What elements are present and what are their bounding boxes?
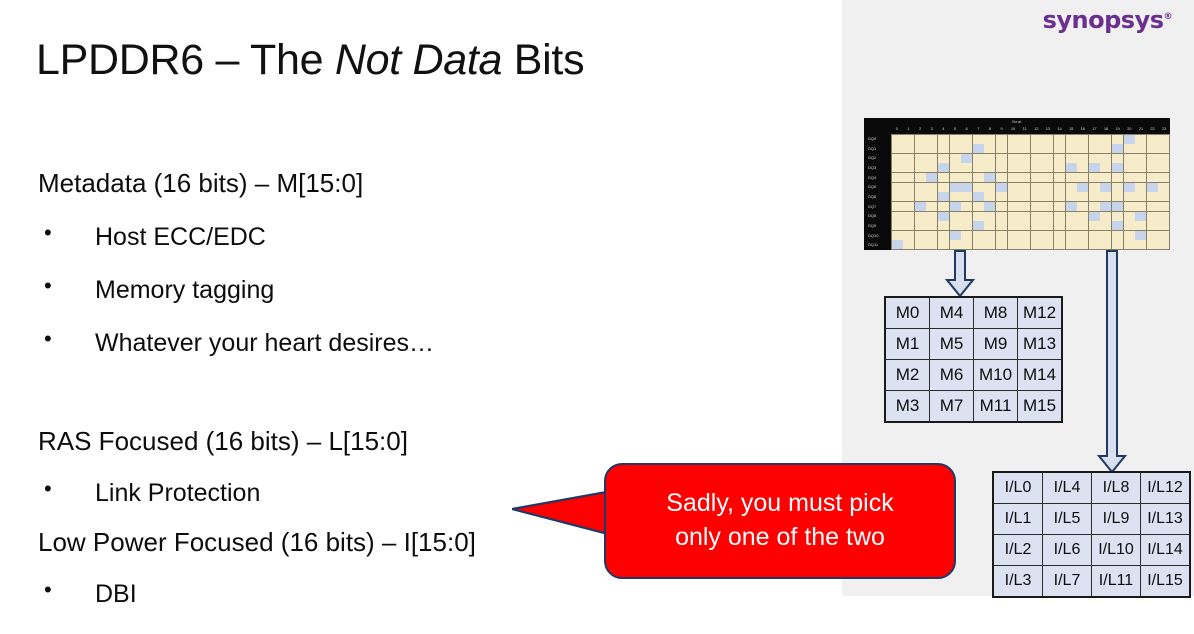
metadata-bit-table: M0M4M8M12M1M5M9M13M2M6M10M14M3M7M11M15 — [884, 296, 1063, 423]
heatmap-cell — [961, 173, 972, 182]
heatmap-cell — [1124, 231, 1135, 240]
heatmap-cell — [892, 163, 903, 172]
heatmap-cell — [996, 173, 1007, 182]
heatmap-cell — [1135, 231, 1146, 240]
heatmap-cell — [915, 173, 926, 182]
heatmap-cell — [1054, 183, 1065, 192]
heatmap-cell — [1031, 163, 1042, 172]
heatmap-row-label: DQ11 — [864, 240, 891, 250]
heatmap-cell — [1054, 231, 1065, 240]
heatmap-cell — [1089, 163, 1100, 172]
heatmap-col-label: 16 — [1077, 125, 1089, 133]
heatmap-cell — [1158, 135, 1169, 144]
metadata-bit-cell: M7 — [930, 391, 974, 423]
heatmap-cell — [926, 183, 937, 192]
il-bit-cell: I/L3 — [993, 566, 1043, 598]
heatmap-cell — [1089, 144, 1100, 153]
heatmap-cell — [950, 202, 961, 211]
heatmap-cell — [1158, 144, 1169, 153]
heatmap-cell — [1008, 221, 1019, 230]
heatmap-cell — [1042, 231, 1053, 240]
heatmap-cell — [1135, 163, 1146, 172]
heatmap-cell — [915, 163, 926, 172]
heatmap-col-label: 10 — [1007, 125, 1019, 133]
heatmap-cell — [1031, 202, 1042, 211]
heatmap-col-label: 12 — [1031, 125, 1043, 133]
heatmap-cell — [1124, 154, 1135, 163]
table-row: I/L2I/L6I/L10I/L14 — [993, 535, 1190, 566]
heatmap-cell — [926, 192, 937, 201]
heatmap-cell — [950, 163, 961, 172]
heatmap-cell — [1158, 240, 1169, 249]
arrow-shape — [947, 251, 973, 296]
heatmap-row-label: DQ8 — [864, 211, 891, 221]
heatmap-cell — [1008, 192, 1019, 201]
heatmap-cell — [915, 231, 926, 240]
heatmap-cell — [1042, 144, 1053, 153]
heatmap-row-label: DQ5 — [864, 182, 891, 192]
registered-mark: ® — [1164, 12, 1173, 22]
il-bit-cell: I/L12 — [1141, 472, 1191, 504]
heatmap-cell — [926, 212, 937, 221]
title-part-2: Bits — [502, 36, 584, 84]
heatmap-cell — [1066, 221, 1077, 230]
heatmap-cell — [938, 192, 949, 201]
heatmap-cell — [903, 154, 914, 163]
il-bit-cell: I/L2 — [993, 535, 1043, 566]
heatmap-cell — [1100, 221, 1111, 230]
heatmap-cell — [1066, 144, 1077, 153]
heatmap-cell — [984, 154, 995, 163]
heatmap-cell — [1147, 173, 1158, 182]
heatmap-cell — [973, 183, 984, 192]
heatmap-cell — [1112, 192, 1123, 201]
metadata-bit-cell: M12 — [1018, 297, 1063, 329]
il-bit-cell: I/L10 — [1092, 535, 1141, 566]
il-bit-table: I/L0I/L4I/L8I/L12I/L1I/L5I/L9I/L13I/L2I/… — [992, 471, 1191, 598]
heatmap-cell — [1124, 221, 1135, 230]
heatmap-cell — [1054, 202, 1065, 211]
dq-beat-heatmap: Beat 01234567891011121314151617181920212… — [864, 118, 1170, 250]
heatmap-cell — [984, 192, 995, 201]
bullet-item: • Whatever your heart desires… — [38, 329, 434, 357]
heatmap-cell — [1054, 135, 1065, 144]
heatmap-cell — [973, 202, 984, 211]
heatmap-cell — [950, 144, 961, 153]
heatmap-cell — [996, 231, 1007, 240]
table-row: M1M5M9M13 — [885, 329, 1062, 360]
heatmap-cell — [1031, 192, 1042, 201]
heatmap-col-label: 23 — [1158, 125, 1170, 133]
il-table-body: I/L0I/L4I/L8I/L12I/L1I/L5I/L9I/L13I/L2I/… — [993, 472, 1190, 597]
heatmap-cell — [1112, 212, 1123, 221]
heatmap-cell — [915, 240, 926, 249]
heatmap-cell — [1124, 202, 1135, 211]
heatmap-cell — [1158, 154, 1169, 163]
heatmap-cell — [996, 202, 1007, 211]
heatmap-cell — [1147, 163, 1158, 172]
heatmap-col-label: 22 — [1147, 125, 1159, 133]
heatmap-cell — [1019, 144, 1030, 153]
heatmap-cell — [1031, 240, 1042, 249]
il-bit-cell: I/L6 — [1043, 535, 1092, 566]
metadata-bit-cell: M13 — [1018, 329, 1063, 360]
heatmap-cell — [1147, 202, 1158, 211]
heatmap-cell — [1100, 183, 1111, 192]
metadata-bit-cell: M10 — [974, 360, 1018, 391]
heatmap-cell — [1158, 231, 1169, 240]
heatmap-cell — [1008, 173, 1019, 182]
heatmap-cell — [996, 135, 1007, 144]
heatmap-cell — [1066, 202, 1077, 211]
table-row: I/L1I/L5I/L9I/L13 — [993, 504, 1190, 535]
metadata-bit-cell: M14 — [1018, 360, 1063, 391]
heatmap-cell — [926, 163, 937, 172]
heatmap-col-label: 4 — [938, 125, 950, 133]
heatmap-cell — [1042, 173, 1053, 182]
heatmap-cell — [1019, 173, 1030, 182]
heatmap-cell — [961, 154, 972, 163]
il-bit-cell: I/L13 — [1141, 504, 1191, 535]
heatmap-cell — [1031, 173, 1042, 182]
heatmap-cell — [950, 221, 961, 230]
section-heading: Low Power Focused (16 bits) – I[15:0] — [38, 528, 476, 557]
heatmap-cell — [1135, 240, 1146, 249]
heatmap-cell — [1008, 183, 1019, 192]
bullet-glyph-icon: • — [44, 477, 52, 502]
heatmap-cell — [1008, 231, 1019, 240]
heatmap-cell — [1089, 192, 1100, 201]
heatmap-cell — [1066, 135, 1077, 144]
title-part-1: LPDDR6 – The — [36, 36, 335, 84]
heatmap-cell — [996, 221, 1007, 230]
heatmap-cell — [1019, 212, 1030, 221]
heatmap-cell — [1077, 163, 1088, 172]
bullet-item: • Memory tagging — [38, 276, 434, 304]
heatmap-cell — [950, 212, 961, 221]
heatmap-cell — [903, 192, 914, 201]
heatmap-cell — [938, 135, 949, 144]
heatmap-cell — [961, 192, 972, 201]
heatmap-cell — [996, 183, 1007, 192]
heatmap-cell — [950, 231, 961, 240]
heatmap-cell — [1008, 135, 1019, 144]
heatmap-cell — [1066, 163, 1077, 172]
heatmap-cell — [1031, 212, 1042, 221]
heatmap-cell — [1124, 163, 1135, 172]
il-bit-cell: I/L0 — [993, 472, 1043, 504]
heatmap-grid — [891, 134, 1170, 250]
heatmap-cell — [1135, 202, 1146, 211]
heatmap-col-label: 17 — [1089, 125, 1101, 133]
heatmap-cell — [1100, 192, 1111, 201]
heatmap-cell — [915, 212, 926, 221]
heatmap-cell — [1124, 135, 1135, 144]
heatmap-cell — [1158, 212, 1169, 221]
heatmap-cell — [1147, 240, 1158, 249]
heatmap-row-label: DQ1 — [864, 144, 891, 154]
heatmap-cell — [1112, 202, 1123, 211]
bullet-glyph-icon: • — [44, 221, 52, 246]
heatmap-cell — [1042, 202, 1053, 211]
heatmap-cell — [1042, 240, 1053, 249]
heatmap-cell — [1089, 135, 1100, 144]
bullet-glyph-icon: • — [44, 578, 52, 603]
heatmap-cell — [1066, 154, 1077, 163]
heatmap-cell — [973, 221, 984, 230]
heatmap-cell — [1077, 192, 1088, 201]
heatmap-cell — [1019, 221, 1030, 230]
heatmap-col-label: 14 — [1054, 125, 1066, 133]
il-bit-cell: I/L1 — [993, 504, 1043, 535]
heatmap-cell — [926, 240, 937, 249]
heatmap-cell — [926, 231, 937, 240]
heatmap-cell — [984, 231, 995, 240]
heatmap-cell — [1077, 154, 1088, 163]
section-metadata: Metadata (16 bits) – M[15:0] • Host ECC/… — [38, 169, 434, 357]
heatmap-cell — [1112, 240, 1123, 249]
heatmap-cell — [984, 240, 995, 249]
heatmap-cell — [984, 163, 995, 172]
metadata-bit-cell: M1 — [885, 329, 930, 360]
bullet-label: Link Protection — [75, 479, 260, 507]
heatmap-row-label: DQ3 — [864, 163, 891, 173]
heatmap-cell — [1147, 231, 1158, 240]
heatmap-cell — [892, 192, 903, 201]
heatmap-cell — [1089, 183, 1100, 192]
heatmap-cell — [996, 163, 1007, 172]
heatmap-cell — [1135, 144, 1146, 153]
heatmap-cell — [892, 221, 903, 230]
heatmap-cell — [926, 154, 937, 163]
metadata-bit-cell: M5 — [930, 329, 974, 360]
arrow-shape — [1099, 251, 1125, 472]
bullet-item: • Link Protection — [38, 479, 476, 507]
heatmap-cell — [1042, 163, 1053, 172]
heatmap-cell — [950, 183, 961, 192]
heatmap-cell — [938, 221, 949, 230]
heatmap-col-label: 3 — [926, 125, 938, 133]
callout-bubble: Sadly, you must pick only one of the two — [604, 463, 956, 579]
heatmap-cell — [926, 202, 937, 211]
heatmap-cell — [984, 144, 995, 153]
bullet-item: • DBI — [38, 580, 476, 608]
bullet-label: Memory tagging — [75, 276, 274, 304]
table-row: M3M7M11M15 — [885, 391, 1062, 423]
heatmap-cell — [915, 144, 926, 153]
heatmap-row-label: DQ9 — [864, 221, 891, 231]
heatmap-cell — [903, 183, 914, 192]
il-bit-cell: I/L15 — [1141, 566, 1191, 598]
il-bit-cell: I/L5 — [1043, 504, 1092, 535]
heatmap-cell — [961, 144, 972, 153]
table-row: I/L0I/L4I/L8I/L12 — [993, 472, 1190, 504]
table-row: I/L3I/L7I/L11I/L15 — [993, 566, 1190, 598]
heatmap-cell — [1066, 192, 1077, 201]
heatmap-cell — [961, 221, 972, 230]
heatmap-cell — [1158, 221, 1169, 230]
heatmap-cell — [961, 163, 972, 172]
heatmap-cell — [1019, 183, 1030, 192]
heatmap-cell — [938, 154, 949, 163]
heatmap-cell — [1124, 173, 1135, 182]
heatmap-cell — [984, 221, 995, 230]
heatmap-cell — [973, 163, 984, 172]
bullet-label: Whatever your heart desires… — [75, 329, 434, 357]
metadata-bit-cell: M9 — [974, 329, 1018, 360]
heatmap-row-label: DQ10 — [864, 231, 891, 241]
metadata-bit-cell: M2 — [885, 360, 930, 391]
callout-text: Sadly, you must pick only one of the two — [604, 463, 956, 579]
heatmap-cell — [1089, 154, 1100, 163]
heatmap-cell — [1019, 154, 1030, 163]
heatmap-cell — [1042, 135, 1053, 144]
heatmap-cell — [1124, 183, 1135, 192]
heatmap-cell — [892, 240, 903, 249]
callout-tail-arrow-icon — [512, 475, 612, 547]
heatmap-cell — [892, 173, 903, 182]
logo-wordmark: synopsys — [1043, 6, 1164, 34]
heatmap-cell — [1158, 163, 1169, 172]
heatmap-cell — [903, 173, 914, 182]
heatmap-cell — [915, 221, 926, 230]
heatmap-cell — [903, 231, 914, 240]
heatmap-col-label: 19 — [1112, 125, 1124, 133]
heatmap-cell — [1008, 202, 1019, 211]
heatmap-cell — [1135, 154, 1146, 163]
heatmap-cell — [1124, 212, 1135, 221]
heatmap-col-label: 20 — [1124, 125, 1136, 133]
heatmap-cell — [1077, 240, 1088, 249]
heatmap-cell — [1089, 212, 1100, 221]
heatmap-cell — [1077, 231, 1088, 240]
heatmap-cell — [903, 212, 914, 221]
heatmap-cell — [1066, 212, 1077, 221]
heatmap-col-label: 7 — [972, 125, 984, 133]
heatmap-cell — [1147, 192, 1158, 201]
heatmap-cell — [1008, 144, 1019, 153]
heatmap-cell — [1077, 144, 1088, 153]
heatmap-cell — [903, 163, 914, 172]
heatmap-cell — [1019, 135, 1030, 144]
heatmap-cell — [1100, 202, 1111, 211]
heatmap-cell — [973, 144, 984, 153]
heatmap-cell — [892, 154, 903, 163]
heatmap-cell — [961, 202, 972, 211]
metadata-bit-cell: M11 — [974, 391, 1018, 423]
heatmap-cell — [1008, 154, 1019, 163]
bullet-glyph-icon: • — [44, 327, 52, 352]
heatmap-cell — [1077, 173, 1088, 182]
tail-shape — [512, 491, 612, 535]
heatmap-cell — [950, 135, 961, 144]
heatmap-cell — [1100, 231, 1111, 240]
section-heading: RAS Focused (16 bits) – L[15:0] — [38, 427, 476, 456]
heatmap-cell — [1158, 183, 1169, 192]
il-bit-cell: I/L11 — [1092, 566, 1141, 598]
heatmap-cell — [1100, 135, 1111, 144]
heatmap-cell — [1100, 154, 1111, 163]
heatmap-col-label: 0 — [891, 125, 903, 133]
heatmap-cell — [1135, 221, 1146, 230]
heatmap-cell — [926, 135, 937, 144]
il-bit-cell: I/L7 — [1043, 566, 1092, 598]
heatmap-row-label: DQ4 — [864, 173, 891, 183]
heatmap-cell — [973, 212, 984, 221]
heatmap-cell — [973, 192, 984, 201]
heatmap-cell — [950, 240, 961, 249]
heatmap-cell — [1019, 192, 1030, 201]
heatmap-cell — [1158, 192, 1169, 201]
heatmap-cell — [961, 212, 972, 221]
heatmap-cell — [938, 202, 949, 211]
heatmap-cell — [903, 240, 914, 249]
heatmap-cell — [1089, 173, 1100, 182]
heatmap-cell — [1019, 202, 1030, 211]
heatmap-cell — [938, 144, 949, 153]
bullet-label: Host ECC/EDC — [75, 223, 266, 251]
heatmap-col-label: 18 — [1100, 125, 1112, 133]
heatmap-cell — [1019, 231, 1030, 240]
bullet-glyph-icon: • — [44, 274, 52, 299]
heatmap-cell — [938, 173, 949, 182]
heatmap-col-label: 5 — [949, 125, 961, 133]
heatmap-cell — [1158, 173, 1169, 182]
heatmap-cell — [973, 231, 984, 240]
heatmap-cell — [1147, 154, 1158, 163]
il-bit-cell: I/L9 — [1092, 504, 1141, 535]
heatmap-cell — [1124, 144, 1135, 153]
down-arrow-icon-il — [1097, 250, 1127, 474]
heatmap-cell — [961, 240, 972, 249]
heatmap-cell — [1031, 154, 1042, 163]
heatmap-cell — [892, 231, 903, 240]
heatmap-cell — [1054, 163, 1065, 172]
heatmap-cell — [1054, 154, 1065, 163]
heatmap-column-headers: 01234567891011121314151617181920212223 — [891, 125, 1170, 133]
heatmap-cell — [973, 135, 984, 144]
callout-line-2: only one of the two — [675, 521, 885, 555]
heatmap-cell — [938, 240, 949, 249]
heatmap-cell — [1100, 240, 1111, 249]
heatmap-cell — [915, 183, 926, 192]
heatmap-cell — [926, 221, 937, 230]
heatmap-cell — [1066, 240, 1077, 249]
heatmap-cell — [892, 183, 903, 192]
heatmap-cell — [1147, 144, 1158, 153]
bullet-item: • Host ECC/EDC — [38, 223, 434, 251]
heatmap-cell — [903, 221, 914, 230]
heatmap-cell — [926, 173, 937, 182]
heatmap-cell — [1135, 212, 1146, 221]
heatmap-cell — [1077, 183, 1088, 192]
heatmap-cell — [892, 135, 903, 144]
section-ras-lowpower: RAS Focused (16 bits) – L[15:0] • Link P… — [38, 427, 476, 608]
heatmap-cell — [903, 202, 914, 211]
heatmap-cell — [938, 212, 949, 221]
heatmap-cell — [961, 231, 972, 240]
metadata-bit-cell: M3 — [885, 391, 930, 423]
heatmap-cell — [1077, 212, 1088, 221]
heatmap-cell — [892, 144, 903, 153]
heatmap-cell — [1054, 212, 1065, 221]
heatmap-cell — [1066, 183, 1077, 192]
heatmap-cell — [1066, 173, 1077, 182]
heatmap-col-label: 1 — [903, 125, 915, 133]
heatmap-col-label: 21 — [1135, 125, 1147, 133]
heatmap-cell — [1112, 135, 1123, 144]
heatmap-cell — [1124, 192, 1135, 201]
